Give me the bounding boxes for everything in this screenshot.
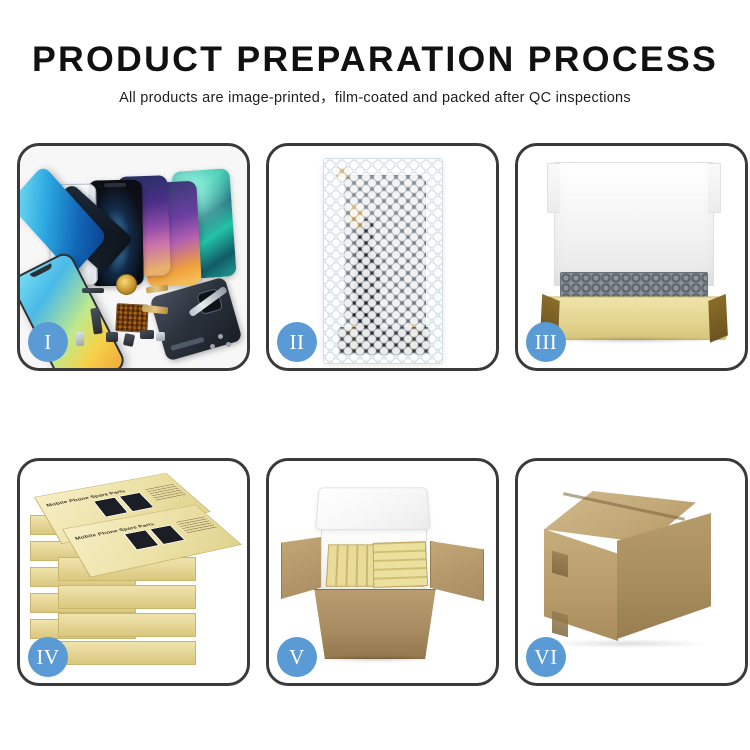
process-step-panel-2: II	[266, 143, 499, 371]
process-steps-grid: I II	[17, 143, 733, 686]
white-foam-lid-icon	[554, 162, 714, 286]
step-badge-3: III	[526, 322, 566, 362]
process-step-panel-4: Mobile Phone Spare Parts Mobile Phone Sp…	[17, 458, 250, 686]
bubble-wrap-bag-icon	[323, 158, 443, 364]
page-title: PRODUCT PREPARATION PROCESS	[0, 0, 750, 77]
step-badge-5: V	[277, 637, 317, 677]
housing-strip-icon	[170, 337, 204, 351]
retail-box-front-3	[58, 613, 196, 637]
carton-shadow-6	[550, 639, 706, 648]
battery-connector-part-icon	[82, 288, 104, 293]
step-badge-4: IV	[28, 637, 68, 677]
carton-shadow	[313, 655, 437, 663]
box-shadow	[548, 336, 718, 344]
metal-bracket-part-icon	[76, 332, 84, 346]
small-module-part-3-icon	[140, 330, 154, 339]
kraft-box-front-icon	[541, 296, 727, 340]
speaker-coil-part-icon	[116, 274, 137, 295]
carton-tape-upper-icon	[552, 551, 568, 578]
small-module-part-icon	[106, 332, 118, 342]
process-step-panel-3: III	[515, 143, 748, 371]
page-subtitle: All products are image-printed，film-coat…	[0, 77, 750, 107]
foam-box-lid-icon	[315, 487, 431, 530]
step-badge-1: I	[28, 322, 68, 362]
screw-2-icon	[226, 342, 231, 347]
carton-tape-lower-icon	[552, 611, 568, 638]
page-header: PRODUCT PREPARATION PROCESS All products…	[0, 0, 750, 107]
product-preparation-page: PRODUCT PREPARATION PROCESS All products…	[0, 0, 750, 750]
yellow-packed-units-2-icon	[373, 541, 429, 588]
retail-box-front-4	[58, 641, 196, 665]
screw-icon	[218, 334, 223, 339]
retail-box-front-2	[58, 585, 196, 609]
metal-bracket-part-2-icon	[156, 332, 165, 341]
box-spec-lines-front	[175, 516, 216, 533]
step-badge-2: II	[277, 322, 317, 362]
screw-3-icon	[210, 344, 215, 349]
step-badge-6: VI	[526, 637, 566, 677]
box-spec-lines-rear	[145, 483, 186, 500]
process-step-panel-1: I	[17, 143, 250, 371]
phone-notch-icon	[104, 183, 126, 187]
carton-body-icon	[309, 589, 441, 659]
bubble-texture-icon	[324, 159, 442, 363]
process-step-panel-5: V	[266, 458, 499, 686]
process-step-panel-6: VI	[515, 458, 748, 686]
